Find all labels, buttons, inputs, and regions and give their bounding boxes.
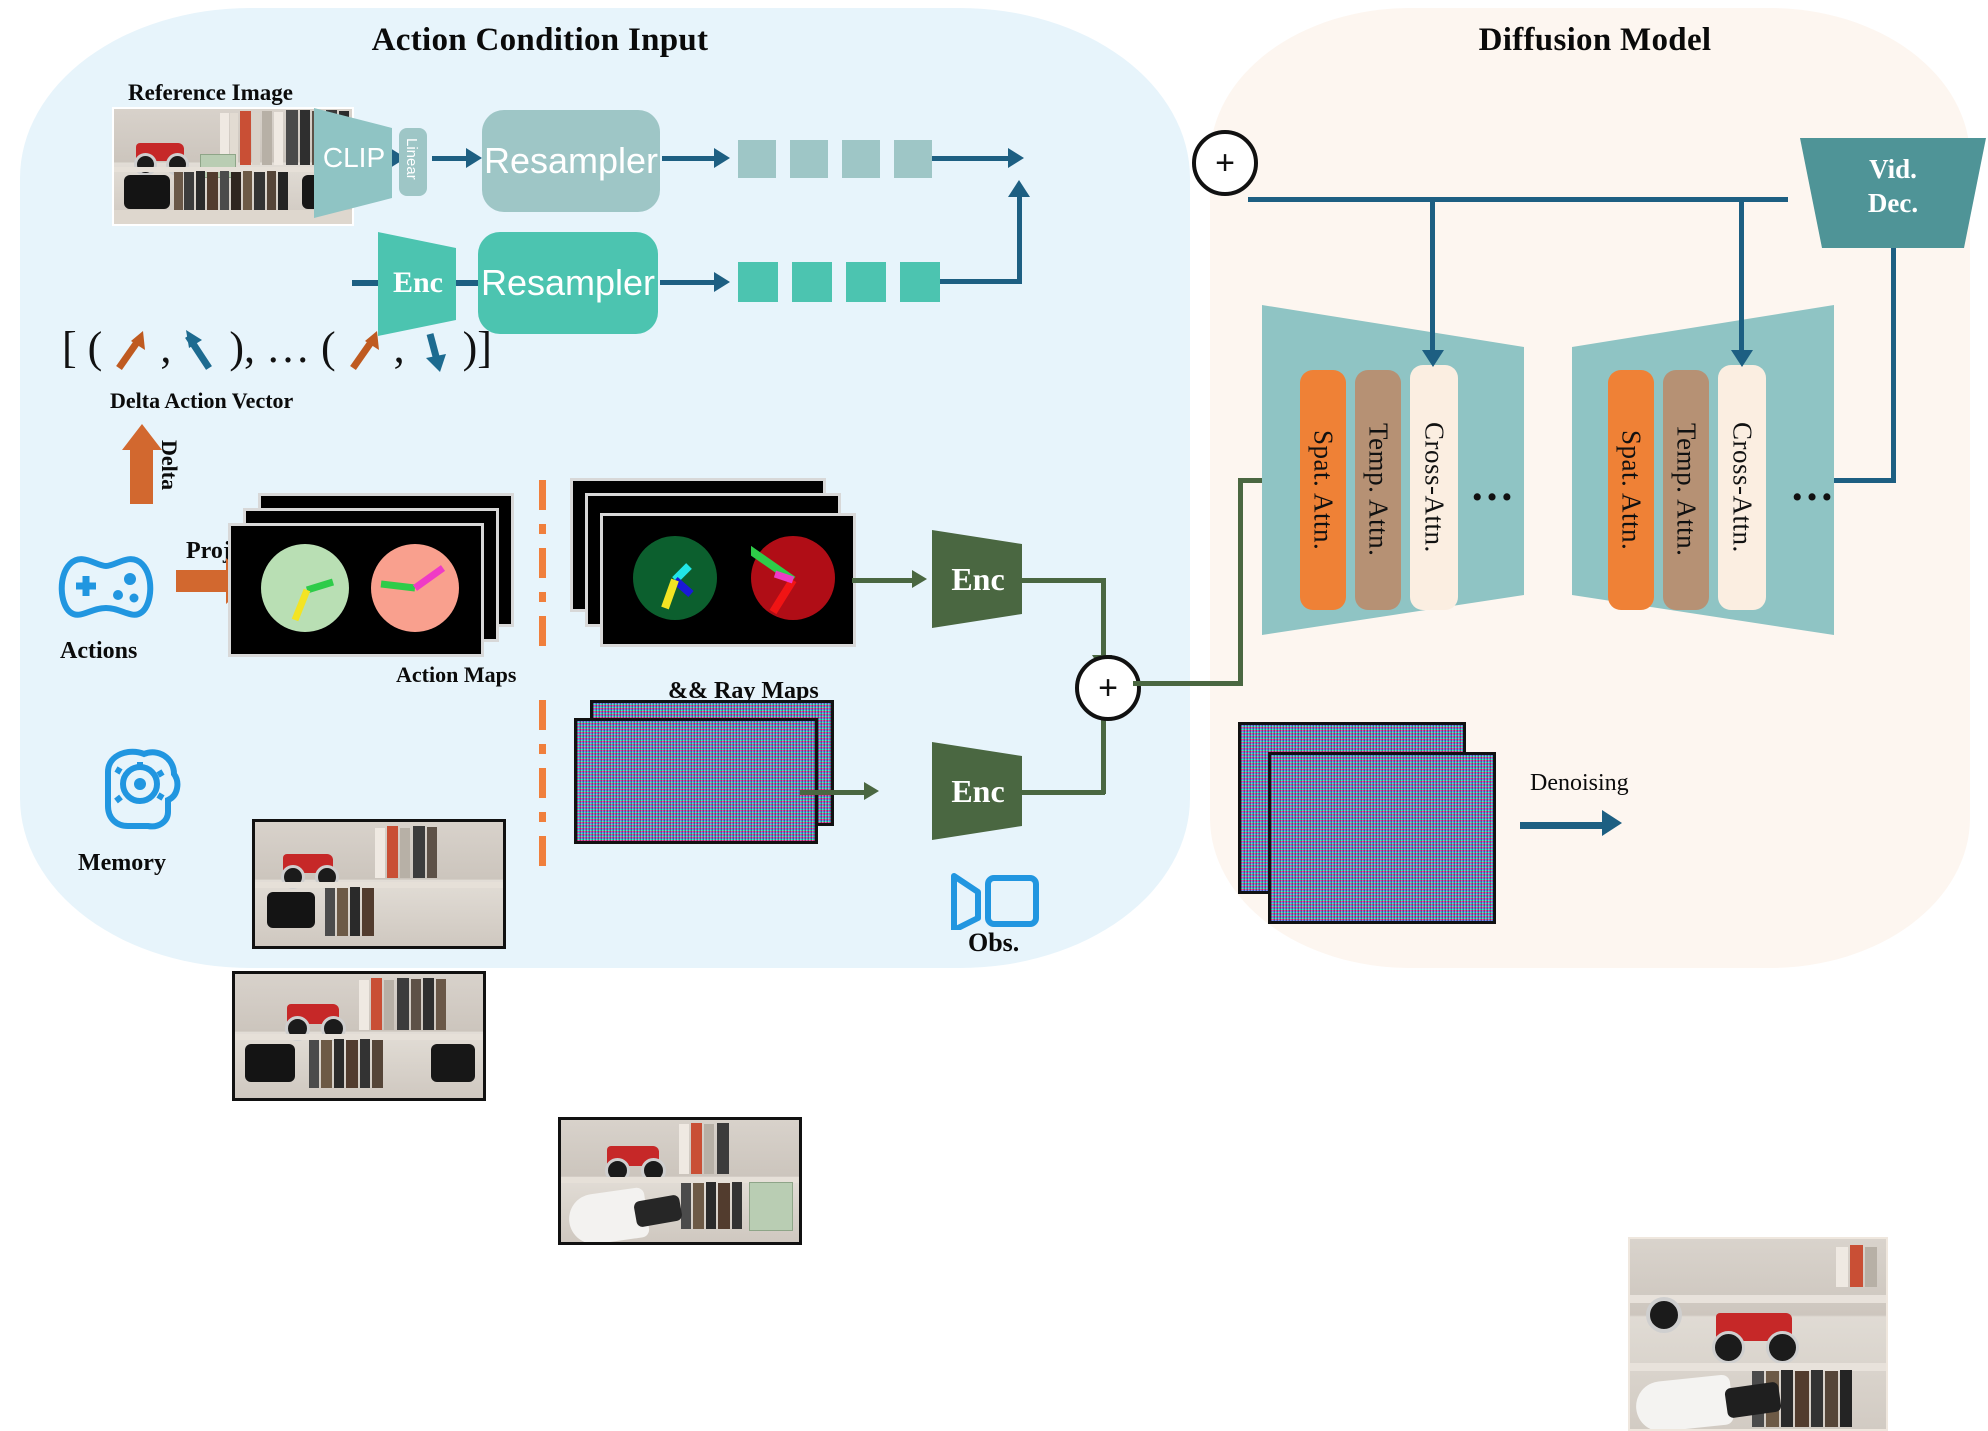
arrow-unet-out-v [1891,238,1896,483]
video-decoder-labels: Vid. Dec. [1800,152,1986,220]
vid-dec-line1: Vid. [1800,152,1986,186]
denoise-input-front [1268,752,1496,924]
arrow-resampler-to-tokens-bottom [660,280,716,285]
action-map-frame-front [228,523,484,657]
arrow-enc-obs-v [1101,712,1106,794]
delta-label: Delta [156,440,182,490]
image-token [790,140,828,178]
down-temp-attn-block[interactable]: Temp. Attn. [1355,370,1401,610]
page-title-right: Diffusion Model [1400,22,1790,59]
down-spat-attn-block[interactable]: Spat. Attn. [1300,370,1346,610]
arrow-head [1422,350,1444,367]
enc-action-label: Enc [378,266,458,300]
arrow-tokens-elbow-h [940,279,1022,284]
up-temp-attn-block[interactable]: Temp. Attn. [1663,370,1709,610]
cond-branch-down-2 [1739,197,1744,362]
up-temp-attn-label: Temp. Attn. [1671,423,1702,556]
resampler-action: Resampler [478,232,658,334]
bracket-open: [ ( [62,323,102,372]
action-token [846,262,886,302]
camera-icon [948,868,1040,930]
arrow-down-right-blue-icon [182,328,218,374]
resampler-image: Resampler [482,110,660,212]
up-cross-attn-label: Cross-Attn. [1727,422,1758,553]
ray-map-vectors-left [633,536,719,622]
up-spat-attn-label: Spat. Attn. [1616,430,1647,550]
arrow-head [1602,810,1622,836]
up-spat-attn-block[interactable]: Spat. Attn. [1608,370,1654,610]
action-token [792,262,832,302]
clip-label: CLIP [312,142,396,174]
arrow-sum-to-unet-v [1238,478,1243,686]
arrow-tokens-elbow-v [1017,196,1022,284]
down-cross-attn-block[interactable]: Cross-Attn. [1410,365,1458,610]
linear-label: Linear [403,138,420,192]
down-block-ellipsis: … [1470,460,1517,511]
cond-bus-horizontal [1248,197,1788,202]
page-title-left: Action Condition Input [330,22,750,59]
arrow-head [714,272,730,292]
arrow-head [466,148,482,168]
down-spat-attn-label: Spat. Attn. [1308,430,1339,550]
down-temp-attn-label: Temp. Attn. [1363,423,1394,556]
arrow-head [864,782,879,800]
vid-dec-line2: Dec. [1800,186,1986,220]
denoise-output-image [1628,1237,1888,1431]
delta-action-vector-label: Delta Action Vector [110,388,293,414]
arrow-head [1731,350,1753,367]
arrow-enc-raymap-v [1101,578,1106,660]
arrow-head [714,148,730,168]
sum-node-latent: + [1075,655,1141,721]
gamepad-icon [52,550,160,626]
arrow-resampler-to-tokens-top [662,156,716,161]
arrow-enc-obs-h [1021,790,1105,795]
arrow-enc-raymap-h [1021,578,1105,583]
section-divider-bottom [539,700,546,890]
obs-label: Obs. [968,928,1019,958]
cond-branch-down-1 [1430,197,1435,362]
ray-map-frame-front [600,513,856,647]
delta-arrow-shaft [130,448,153,504]
image-token [738,140,776,178]
arrow-tokens-to-sum-top [932,156,1010,161]
action-token [738,262,778,302]
down-cross-attn-label: Cross-Attn. [1419,422,1450,553]
noisy-obs-front [558,1117,802,1245]
memory-frame-back [252,819,506,949]
memory-label: Memory [78,850,166,877]
action-map-vectors-right [371,544,461,634]
arrow-unet-out-h [1834,478,1896,483]
action-map-vectors-left [261,544,351,634]
actions-label: Actions [60,638,137,665]
enc-obs-label: Enc [934,774,1022,808]
arrow-sum-to-unet-h [1133,681,1243,686]
up-cross-attn-block[interactable]: Cross-Attn. [1718,365,1766,610]
memory-frame-front [232,971,486,1101]
noisy-obs-mid [574,718,818,844]
enc-raymap-label: Enc [934,562,1022,596]
arrow-head [1008,180,1030,197]
action-maps-label: Action Maps [396,662,516,688]
up-block-ellipsis: … [1790,460,1837,511]
arrow-raymaps-to-enc [852,578,914,583]
section-divider-top [539,480,546,670]
proj-arrow-shaft [176,570,228,592]
arrow-head [1008,148,1024,168]
arrow-denoising [1520,822,1606,829]
arrow-up-right-orange-icon [113,328,149,374]
image-token [894,140,932,178]
action-token [900,262,940,302]
arrow-linear-to-resampler [432,156,468,161]
denoising-label: Denoising [1530,770,1629,797]
reference-image-label: Reference Image [128,80,293,106]
brain-memory-icon [88,742,184,838]
image-token [842,140,880,178]
ray-map-vectors-right [751,536,837,622]
sum-node-conditioning: + [1192,130,1258,196]
arrow-head [912,570,927,588]
arrow-obs-to-enc [800,790,866,795]
